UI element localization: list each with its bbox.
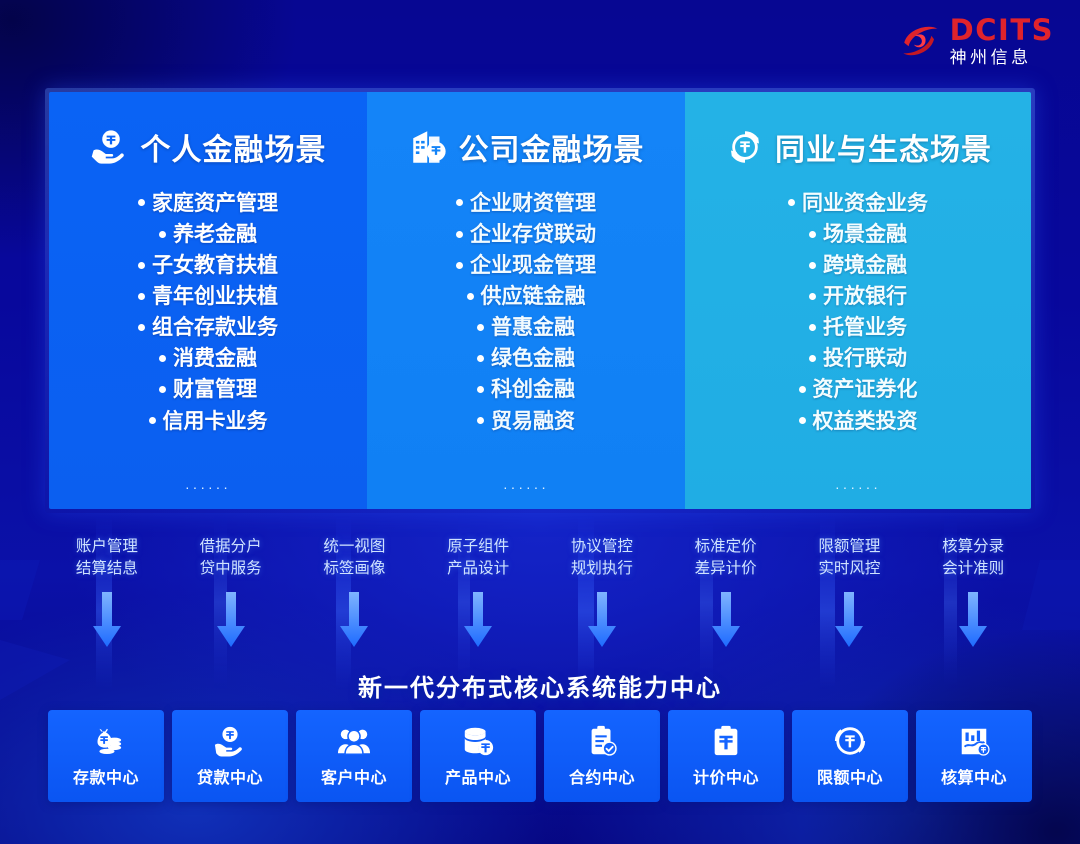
down-arrow-icon xyxy=(339,592,369,648)
panel-corporate-finance[interactable]: 公司金融场景 企业财资管理 企业存贷联动 企业现金管理 供应链金融 普惠金融 绿… xyxy=(367,92,685,509)
list-item[interactable]: 绿色金融 xyxy=(377,343,675,374)
core-platform-title: 新一代分布式核心系统能力中心 xyxy=(0,668,1080,703)
bullet-dot-icon xyxy=(138,293,145,300)
bullet-dot-icon xyxy=(456,199,463,206)
down-arrow-icon xyxy=(711,592,741,648)
panel-more-indicator: ······ xyxy=(367,479,685,495)
card-accounting-center[interactable]: 核算中心 xyxy=(916,710,1032,802)
list-item[interactable]: 权益类投资 xyxy=(695,406,1021,437)
dcits-swoosh-logo-icon xyxy=(899,20,941,62)
capability-label: 限额管理 实时风控 xyxy=(818,536,880,580)
list-item-label: 企业财资管理 xyxy=(470,192,596,215)
card-limit-center[interactable]: 限额中心 xyxy=(792,710,908,802)
capability-line2: 标签画像 xyxy=(323,558,385,580)
card-label: 计价中心 xyxy=(693,764,759,788)
list-item[interactable]: 跨境金融 xyxy=(695,250,1021,281)
list-item[interactable]: 信用卡业务 xyxy=(59,406,357,437)
panel-title: 个人金融场景 xyxy=(141,125,327,169)
list-item-label: 贸易融资 xyxy=(491,410,575,433)
list-item-label: 养老金融 xyxy=(173,223,257,246)
users-group-icon xyxy=(337,724,371,758)
circle-yuan-arrows-icon xyxy=(833,724,867,758)
list-item-label: 组合存款业务 xyxy=(152,316,278,339)
capability-line2: 贷中服务 xyxy=(200,558,262,580)
capability-line1: 核算分录 xyxy=(942,536,1004,558)
down-arrow-icon xyxy=(92,592,122,648)
capability-line1: 原子组件 xyxy=(447,536,509,558)
list-item[interactable]: 企业财资管理 xyxy=(377,188,675,219)
card-label: 客户中心 xyxy=(321,764,387,788)
capability-label: 账户管理 结算结息 xyxy=(76,536,138,580)
list-item-label: 绿色金融 xyxy=(491,347,575,370)
capability-col-5: 标准定价 差异计价 xyxy=(664,536,788,664)
circular-arrows-yuan-icon xyxy=(724,126,766,168)
panel-item-list: 同业资金业务 场景金融 跨境金融 开放银行 托管业务 投行联动 资产证券化 权益… xyxy=(695,188,1021,437)
capability-label: 核算分录 会计准则 xyxy=(942,536,1004,580)
list-item[interactable]: 科创金融 xyxy=(377,374,675,405)
panel-title: 同业与生态场景 xyxy=(775,125,992,169)
list-item[interactable]: 子女教育扶植 xyxy=(59,250,357,281)
card-label: 产品中心 xyxy=(445,764,511,788)
list-item-label: 消费金融 xyxy=(173,347,257,370)
capability-line2: 实时风控 xyxy=(818,558,880,580)
bullet-dot-icon xyxy=(138,262,145,269)
list-item-label: 企业现金管理 xyxy=(470,254,596,277)
capability-col-6: 限额管理 实时风控 xyxy=(788,536,912,664)
bullet-dot-icon xyxy=(809,293,816,300)
bullet-dot-icon xyxy=(809,324,816,331)
card-loan-center[interactable]: 贷款中心 xyxy=(172,710,288,802)
panel-header: 个人金融场景 xyxy=(59,118,357,176)
down-arrow-icon xyxy=(958,592,988,648)
list-item-label: 托管业务 xyxy=(823,316,907,339)
bullet-dot-icon xyxy=(477,355,484,362)
capability-label: 借据分户 贷中服务 xyxy=(200,536,262,580)
panel-interbank-ecosystem[interactable]: 同业与生态场景 同业资金业务 场景金融 跨境金融 开放银行 托管业务 投行联动 … xyxy=(685,92,1031,509)
capability-line1: 统一视图 xyxy=(323,536,385,558)
panel-title: 公司金融场景 xyxy=(459,125,645,169)
brand-name-en: DCITS xyxy=(950,16,1054,45)
capability-label: 原子组件 产品设计 xyxy=(447,536,509,580)
capability-line1: 限额管理 xyxy=(818,536,880,558)
list-item-label: 普惠金融 xyxy=(491,316,575,339)
list-item[interactable]: 养老金融 xyxy=(59,219,357,250)
card-pricing-center[interactable]: 计价中心 xyxy=(668,710,784,802)
bullet-dot-icon xyxy=(456,262,463,269)
bullet-dot-icon xyxy=(159,386,166,393)
list-item-label: 跨境金融 xyxy=(823,254,907,277)
list-item[interactable]: 家庭资产管理 xyxy=(59,188,357,219)
capability-label: 统一视图 标签画像 xyxy=(323,536,385,580)
capability-line1: 借据分户 xyxy=(200,536,262,558)
capability-col-1: 借据分户 贷中服务 xyxy=(169,536,293,664)
list-item[interactable]: 开放银行 xyxy=(695,281,1021,312)
bullet-dot-icon xyxy=(477,386,484,393)
card-product-center[interactable]: 产品中心 xyxy=(420,710,536,802)
card-label: 合约中心 xyxy=(569,764,635,788)
card-deposit-center[interactable]: 存款中心 xyxy=(48,710,164,802)
card-label: 贷款中心 xyxy=(197,764,263,788)
panel-header: 同业与生态场景 xyxy=(695,118,1021,176)
scenario-panels: 个人金融场景 家庭资产管理 养老金融 子女教育扶植 青年创业扶植 组合存款业务 … xyxy=(49,92,1031,509)
list-item-label: 家庭资产管理 xyxy=(152,192,278,215)
core-capability-cards: 存款中心 贷款中心 客户中心 xyxy=(48,710,1032,802)
list-item-label: 供应链金融 xyxy=(481,285,586,308)
capability-col-0: 账户管理 结算结息 xyxy=(45,536,169,664)
list-item[interactable]: 企业现金管理 xyxy=(377,250,675,281)
capability-line2: 规划执行 xyxy=(571,558,633,580)
money-bag-coins-icon xyxy=(89,724,123,758)
list-item-label: 信用卡业务 xyxy=(163,410,268,433)
list-item[interactable]: 青年创业扶植 xyxy=(59,281,357,312)
capability-line1: 协议管控 xyxy=(571,536,633,558)
scenario-panels-container: 个人金融场景 家庭资产管理 养老金融 子女教育扶植 青年创业扶植 组合存款业务 … xyxy=(45,88,1035,513)
bullet-dot-icon xyxy=(799,417,806,424)
capability-connector-row: 账户管理 结算结息 借据分户 贷中服务 统一视图 标签画像 原子组件 产品设计 … xyxy=(45,536,1035,664)
down-arrow-icon xyxy=(834,592,864,648)
capability-line2: 会计准则 xyxy=(942,558,1004,580)
brand-name-cn: 神州信息 xyxy=(950,49,1054,66)
panel-personal-finance[interactable]: 个人金融场景 家庭资产管理 养老金融 子女教育扶植 青年创业扶植 组合存款业务 … xyxy=(49,92,367,509)
bullet-dot-icon xyxy=(138,199,145,206)
panel-item-list: 企业财资管理 企业存贷联动 企业现金管理 供应链金融 普惠金融 绿色金融 科创金… xyxy=(377,188,675,437)
clipboard-check-icon xyxy=(585,724,619,758)
chart-document-yuan-icon xyxy=(957,724,991,758)
bullet-dot-icon xyxy=(159,355,166,362)
capability-col-2: 统一视图 标签画像 xyxy=(293,536,417,664)
list-item-label: 财富管理 xyxy=(173,378,257,401)
capability-line1: 账户管理 xyxy=(76,536,138,558)
list-item[interactable]: 普惠金融 xyxy=(377,312,675,343)
panel-more-indicator: ······ xyxy=(49,479,367,495)
brand-logo: DCITS 神州信息 xyxy=(899,16,1054,66)
list-item-label: 青年创业扶植 xyxy=(152,285,278,308)
capability-line2: 产品设计 xyxy=(447,558,509,580)
bullet-dot-icon xyxy=(809,231,816,238)
card-label: 核算中心 xyxy=(941,764,1007,788)
clipboard-yuan-icon xyxy=(709,724,743,758)
panel-more-indicator: ······ xyxy=(685,479,1031,495)
panel-item-list: 家庭资产管理 养老金融 子女教育扶植 青年创业扶植 组合存款业务 消费金融 财富… xyxy=(59,188,357,437)
card-contract-center[interactable]: 合约中心 xyxy=(544,710,660,802)
bullet-dot-icon xyxy=(477,324,484,331)
list-item[interactable]: 组合存款业务 xyxy=(59,312,357,343)
bullet-dot-icon xyxy=(159,231,166,238)
list-item[interactable]: 供应链金融 xyxy=(377,281,675,312)
list-item[interactable]: 贸易融资 xyxy=(377,406,675,437)
list-item-label: 开放银行 xyxy=(823,285,907,308)
bullet-dot-icon xyxy=(467,293,474,300)
bullet-dot-icon xyxy=(809,355,816,362)
list-item-label: 科创金融 xyxy=(491,378,575,401)
capability-line1: 标准定价 xyxy=(695,536,757,558)
capability-label: 协议管控 规划执行 xyxy=(571,536,633,580)
bullet-dot-icon xyxy=(456,231,463,238)
list-item-label: 子女教育扶植 xyxy=(152,254,278,277)
list-item[interactable]: 消费金融 xyxy=(59,343,357,374)
down-arrow-icon xyxy=(216,592,246,648)
coins-stack-yuan-icon xyxy=(461,724,495,758)
capability-col-4: 协议管控 规划执行 xyxy=(540,536,664,664)
down-arrow-icon xyxy=(587,592,617,648)
capability-line2: 差异计价 xyxy=(695,558,757,580)
list-item[interactable]: 同业资金业务 xyxy=(695,188,1021,219)
hand-holding-yuan-icon xyxy=(90,126,132,168)
capability-col-7: 核算分录 会计准则 xyxy=(911,536,1035,664)
down-arrow-icon xyxy=(463,592,493,648)
list-item[interactable]: 投行联动 xyxy=(695,343,1021,374)
list-item-label: 场景金融 xyxy=(823,223,907,246)
list-item-label: 资产证券化 xyxy=(813,378,918,401)
list-item[interactable]: 财富管理 xyxy=(59,374,357,405)
card-label: 限额中心 xyxy=(817,764,883,788)
bullet-dot-icon xyxy=(788,199,795,206)
bullet-dot-icon xyxy=(149,417,156,424)
capability-label: 标准定价 差异计价 xyxy=(695,536,757,580)
capability-line2: 结算结息 xyxy=(76,558,138,580)
bullet-dot-icon xyxy=(809,262,816,269)
list-item-label: 投行联动 xyxy=(823,347,907,370)
list-item[interactable]: 企业存贷联动 xyxy=(377,219,675,250)
building-yuan-icon xyxy=(408,126,450,168)
card-label: 存款中心 xyxy=(73,764,139,788)
list-item[interactable]: 资产证券化 xyxy=(695,374,1021,405)
list-item-label: 同业资金业务 xyxy=(802,192,928,215)
list-item-label: 企业存贷联动 xyxy=(470,223,596,246)
bullet-dot-icon xyxy=(138,324,145,331)
hand-yuan-icon xyxy=(213,724,247,758)
list-item[interactable]: 托管业务 xyxy=(695,312,1021,343)
bullet-dot-icon xyxy=(477,417,484,424)
card-customer-center[interactable]: 客户中心 xyxy=(296,710,412,802)
capability-col-3: 原子组件 产品设计 xyxy=(416,536,540,664)
list-item-label: 权益类投资 xyxy=(813,410,918,433)
list-item[interactable]: 场景金融 xyxy=(695,219,1021,250)
panel-header: 公司金融场景 xyxy=(377,118,675,176)
bullet-dot-icon xyxy=(799,386,806,393)
